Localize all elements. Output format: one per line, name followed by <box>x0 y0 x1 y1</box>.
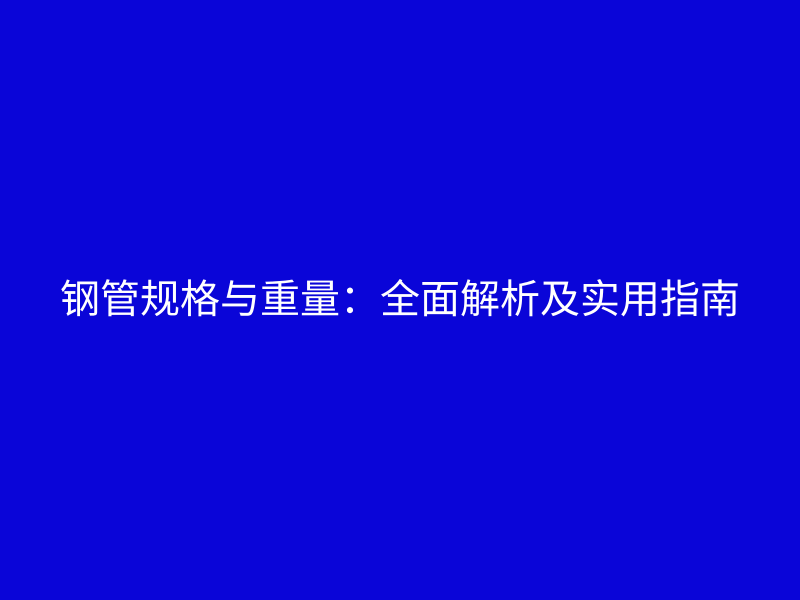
title-slide: 钢管规格与重量：全面解析及实用指南 <box>0 0 800 600</box>
page-title: 钢管规格与重量：全面解析及实用指南 <box>20 280 780 320</box>
title-block: 钢管规格与重量：全面解析及实用指南 <box>0 280 800 320</box>
